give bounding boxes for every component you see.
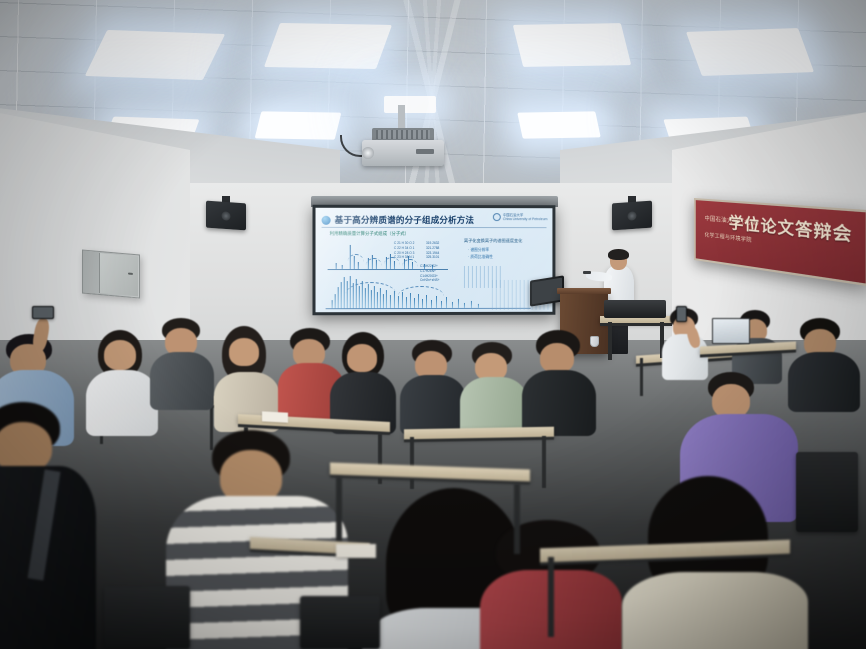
- globe-icon: [322, 215, 331, 224]
- speaker-cone-icon: [222, 211, 231, 221]
- water-cup: [590, 336, 599, 347]
- torso: [788, 352, 860, 412]
- speaker-cone-icon: [628, 211, 637, 221]
- phone-camera[interactable]: [32, 306, 54, 319]
- presenter-hair: [608, 249, 629, 260]
- spectrum-axis: [328, 269, 448, 270]
- projector-label: [416, 149, 434, 154]
- ceiling-light-panel: [384, 96, 436, 113]
- projector-lens-icon: [362, 147, 374, 159]
- head: [540, 343, 574, 373]
- projection-screen: 基于高分辨质谱的分子组成分析方法 中国石油大学 China University…: [312, 205, 555, 316]
- laser-pointer: [583, 271, 591, 274]
- head: [0, 422, 52, 472]
- slide-logo-text: 中国石油大学 China University of Petroleum: [503, 213, 548, 222]
- ceiling-light-panel: [255, 111, 342, 139]
- slide-mass-spectrum-top: [328, 242, 448, 270]
- spectrum-arc: [402, 259, 418, 267]
- head: [229, 338, 259, 366]
- slide-subtitle: 利用精确质量计算分子式组成（分子式）: [330, 231, 409, 237]
- desk-leg: [640, 358, 643, 396]
- lecture-room-photo: 中国石油大学（北京） 化学工程与环境学院 学位论文答辩会 基于高分辨质谱的分子组…: [0, 0, 866, 649]
- spectrum-arc: [366, 258, 382, 266]
- head: [712, 384, 750, 418]
- handout-paper: [336, 544, 376, 558]
- cabinet-door[interactable]: [99, 253, 138, 296]
- university-seal-icon: [493, 213, 501, 221]
- ceiling-light-panel: [686, 28, 814, 76]
- ceiling-projector: [362, 140, 444, 166]
- projector-vent: [376, 130, 430, 139]
- podium-top: [557, 288, 611, 294]
- chair: [796, 452, 858, 532]
- torso: [622, 572, 808, 649]
- desk-leg: [410, 437, 414, 489]
- slide-bullet-2: · 质荷比准确性: [468, 255, 493, 260]
- torso: [150, 352, 214, 410]
- wall-speaker-left: [206, 201, 246, 231]
- desk-leg: [336, 477, 342, 547]
- chair: [300, 596, 380, 649]
- phone-screen: [33, 307, 53, 318]
- ceiling-light-panel: [85, 30, 225, 80]
- wall-speaker-right: [612, 201, 652, 231]
- torso: [400, 375, 466, 435]
- av-equipment: [604, 300, 666, 318]
- cabinet-handle-icon[interactable]: [128, 272, 133, 274]
- handout-paper: [262, 411, 288, 422]
- spectrum-arc: [384, 257, 400, 265]
- ceiling-light-panel: [517, 111, 601, 138]
- desk-leg: [514, 484, 520, 554]
- head: [104, 340, 136, 370]
- desk-leg: [210, 406, 213, 450]
- desk-leg: [542, 436, 546, 488]
- slide-title: 基于高分辨质谱的分子组成分析方法: [335, 214, 474, 226]
- committee-laptop[interactable]: [712, 318, 750, 344]
- phone-screen: [677, 307, 686, 321]
- spectrum-arc: [348, 254, 364, 262]
- chair: [104, 586, 190, 649]
- wall-electrical-cabinet: [82, 249, 140, 298]
- slide-right-heading: 离子化变换离子的谱图速度变化: [464, 238, 522, 244]
- ceiling-light-panel: [513, 23, 631, 67]
- presentation-slide: 基于高分辨质谱的分子组成分析方法 中国石油大学 China University…: [316, 208, 553, 312]
- desk-leg: [548, 557, 554, 637]
- desk: [404, 427, 554, 440]
- head: [347, 344, 377, 372]
- spectrum-arc: [398, 286, 444, 296]
- slide-bullet-1: · 谱图分辨率: [468, 248, 489, 253]
- torso: [86, 370, 158, 436]
- phone-camera[interactable]: [676, 306, 687, 322]
- desk-leg: [608, 322, 612, 360]
- ceiling-light-panel: [264, 23, 392, 69]
- slide-university-logo: 中国石油大学 China University of Petroleum: [493, 213, 547, 222]
